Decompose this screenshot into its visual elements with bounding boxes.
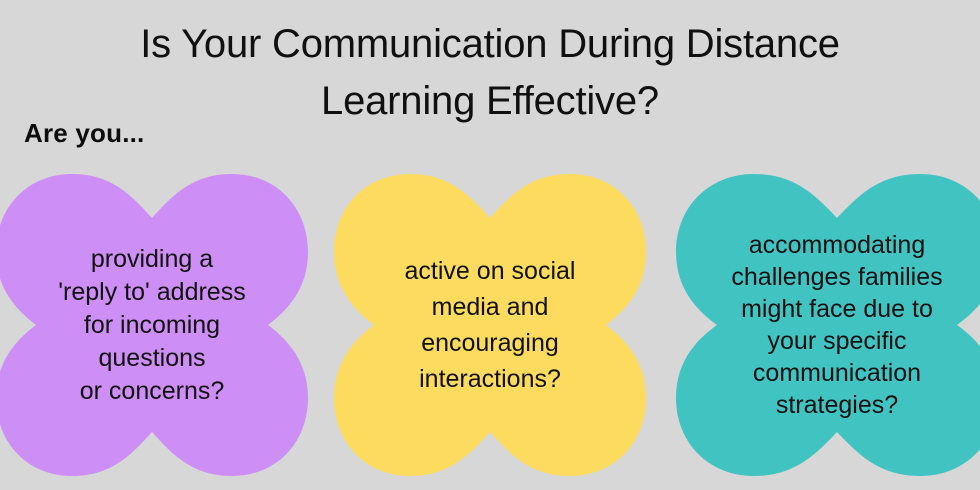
prompt-label: Are you... xyxy=(24,118,144,149)
card-line: or concerns? xyxy=(80,375,225,408)
card-teal-text: accommodating challenges families might … xyxy=(672,170,980,480)
card-line: providing a xyxy=(91,243,213,276)
card-line: for incoming xyxy=(84,309,220,342)
card-group: providing a 'reply to' address for incom… xyxy=(0,170,980,490)
card-line: 'reply to' address xyxy=(58,276,245,309)
card-line: interactions? xyxy=(419,361,561,397)
card-purple[interactable]: providing a 'reply to' address for incom… xyxy=(0,170,312,480)
card-teal[interactable]: accommodating challenges families might … xyxy=(672,170,980,480)
card-line: strategies? xyxy=(776,389,898,421)
page-title-line-1: Is Your Communication During Distance xyxy=(50,16,930,73)
slide-canvas: Is Your Communication During Distance Le… xyxy=(0,0,980,490)
card-line: media and xyxy=(432,289,549,325)
card-line: encouraging xyxy=(421,325,559,361)
card-yellow-text: active on social media and encouraging i… xyxy=(330,170,650,480)
card-line: communication xyxy=(753,357,921,389)
page-title-line-2: Learning Effective? xyxy=(50,73,930,130)
card-line: your specific xyxy=(768,325,907,357)
card-line: active on social xyxy=(405,253,576,289)
card-purple-text: providing a 'reply to' address for incom… xyxy=(0,170,312,480)
card-line: might face due to xyxy=(741,293,933,325)
card-line: questions xyxy=(98,342,205,375)
card-line: accommodating xyxy=(749,229,925,261)
card-yellow[interactable]: active on social media and encouraging i… xyxy=(330,170,650,480)
page-title: Is Your Communication During Distance Le… xyxy=(50,16,930,130)
card-line: challenges families xyxy=(731,261,942,293)
